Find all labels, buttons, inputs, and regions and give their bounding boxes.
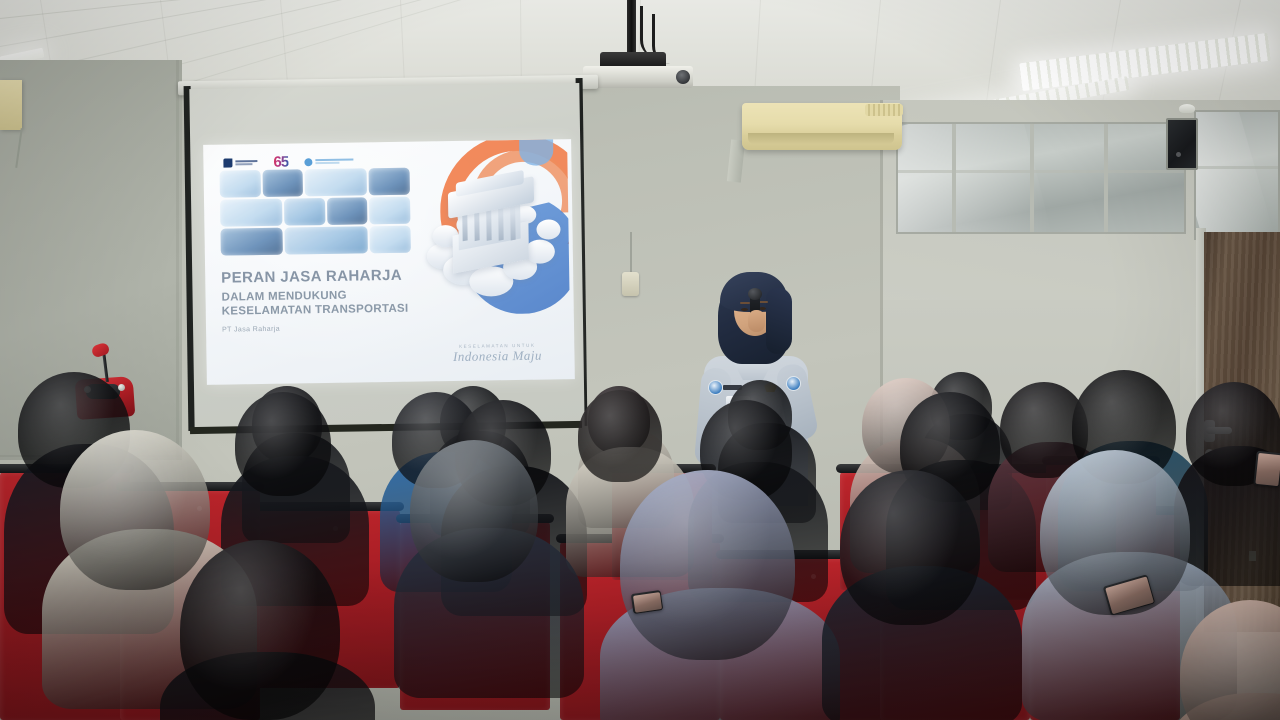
presentation-slide: 65 PERAN JASA RAHARJA DALAM MENDUKUNG KE… (203, 139, 575, 385)
collage-tile (220, 170, 261, 198)
collage-tile (284, 198, 325, 226)
attendee-cream-hijab (60, 430, 210, 590)
slide-tagline: KESELAMATAN UNTUK Indonesia Maju (432, 342, 562, 365)
slide-title-block: PERAN JASA RAHARJA DALAM MENDUKUNG KESEL… (221, 267, 452, 334)
glass-partition-right (1194, 110, 1280, 240)
presenter-hand (748, 310, 765, 332)
screen-remote[interactable] (622, 272, 639, 296)
anniversary-65-logo: 65 (273, 154, 288, 171)
tagline-big: Indonesia Maju (432, 347, 562, 365)
collage-tile (262, 169, 303, 197)
glass-partition (896, 122, 1186, 234)
attendee-black-hijab-2 (235, 392, 331, 496)
slide-artwork (417, 139, 570, 351)
collage-tile (327, 197, 368, 225)
phone-screen (1255, 452, 1280, 485)
wall-speaker (1166, 118, 1198, 170)
smoke-detector-icon (1179, 104, 1195, 113)
collage-tile (370, 226, 411, 254)
wall-junction-box (0, 80, 22, 130)
attendee-lavender-hijab (620, 470, 795, 660)
slide-photo-collage (220, 168, 411, 259)
projector-lens-icon (676, 70, 690, 84)
ac-ridge (865, 104, 903, 116)
phone-screen (632, 592, 661, 613)
collage-tile (369, 197, 410, 225)
phone-held-center[interactable] (631, 590, 663, 614)
collage-tile (220, 228, 282, 256)
wall-seam-left (176, 60, 179, 460)
collage-tile (305, 168, 367, 196)
collage-tile (369, 168, 410, 196)
phone-held-far-right[interactable] (1253, 451, 1280, 488)
slide-title-line1: PERAN JASA RAHARJA (221, 267, 451, 287)
shoulder-patch-left (708, 380, 723, 395)
shoulder-patch-right (786, 376, 801, 391)
screen-control-cable (630, 232, 632, 274)
collage-tile (284, 226, 368, 254)
microphone-head-icon (748, 288, 762, 300)
danantara-indonesia-logo (223, 158, 257, 168)
slide-title-line3: KESELAMATAN TRANSPORTASI (222, 301, 452, 319)
cloud-puff (536, 219, 560, 239)
presenter-hijab-side (766, 288, 792, 354)
collage-tile (220, 199, 282, 227)
attendee-grey-hijab (410, 440, 538, 582)
attendee-greek-key-top (578, 390, 662, 482)
jasa-raharja-logo (304, 157, 353, 166)
seminar-room-photo: 65 PERAN JASA RAHARJA DALAM MENDUKUNG KE… (0, 0, 1280, 720)
temple-building-icon (446, 174, 540, 279)
projector-pole (627, 0, 636, 58)
attendee-dark-hair-ponytail (180, 540, 340, 720)
attendee-batik-blue (840, 470, 980, 625)
ac-vent (748, 133, 894, 144)
